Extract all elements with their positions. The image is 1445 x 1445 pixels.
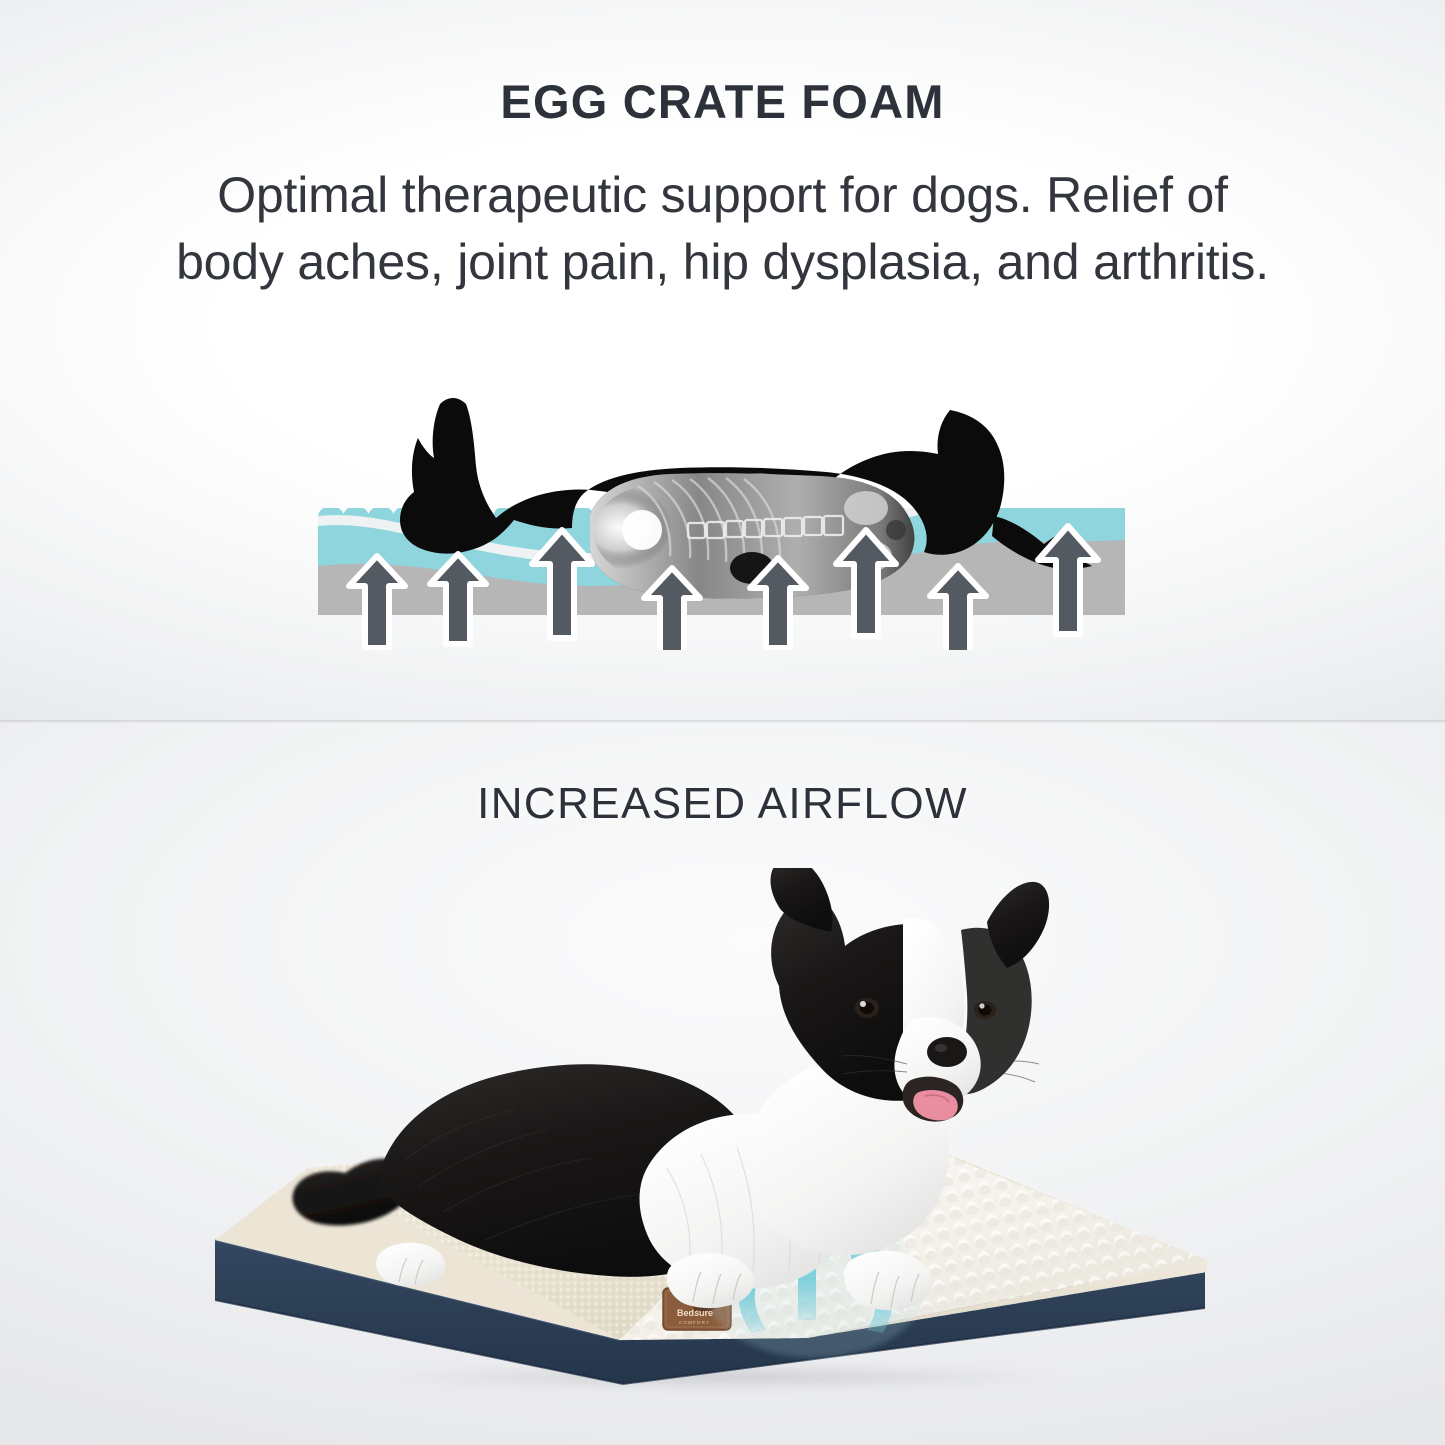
xray-illustration	[300, 380, 1160, 650]
page-title: EGG CRATE FOAM	[0, 74, 1445, 129]
subtitle: Optimal therapeutic support for dogs. Re…	[50, 162, 1395, 296]
egg-crate-peak	[593, 508, 619, 524]
dog-head-black-side	[771, 897, 911, 1101]
egg-crate-peak	[443, 508, 469, 524]
support-base-layer	[318, 561, 1125, 615]
egg-crate-peak	[318, 508, 344, 524]
dog-nose	[927, 1037, 967, 1067]
brand-label-subtext: COMFORT	[679, 1320, 710, 1325]
egg-crate-peak	[543, 508, 569, 524]
egg-crate-peak	[493, 508, 519, 524]
egg-crate-peak	[768, 508, 794, 524]
panel-egg-crate-foam: EGG CRATE FOAM Optimal therapeutic suppo…	[0, 0, 1445, 723]
egg-crate-peak	[518, 508, 544, 524]
egg-crate-peak	[918, 508, 944, 524]
egg-crate-peak	[843, 508, 869, 524]
egg-crate-peak	[1018, 508, 1044, 524]
egg-crate-peak	[993, 508, 1019, 524]
egg-crate-peak	[368, 508, 394, 524]
egg-crate-peak	[1068, 508, 1094, 524]
egg-crate-peaks	[318, 508, 1125, 524]
section-title-airflow: INCREASED AIRFLOW	[0, 779, 1445, 829]
egg-crate-peak	[793, 508, 819, 524]
egg-crate-peak	[568, 508, 594, 524]
egg-crate-peak	[943, 508, 969, 524]
egg-crate-peak	[668, 508, 694, 524]
egg-crate-peak	[393, 508, 419, 524]
egg-crate-peak	[643, 508, 669, 524]
egg-crate-peak	[893, 508, 919, 524]
egg-crate-peak	[693, 508, 719, 524]
foam-cross-section	[318, 508, 1125, 615]
egg-crate-peak	[818, 508, 844, 524]
egg-crate-peak	[1043, 508, 1069, 524]
egg-crate-peak	[618, 508, 644, 524]
egg-crate-peak	[468, 508, 494, 524]
subtitle-line-1: Optimal therapeutic support for dogs. Re…	[217, 167, 1228, 223]
egg-crate-peak	[343, 508, 369, 524]
egg-crate-peak	[1093, 508, 1119, 524]
egg-crate-peak	[968, 508, 994, 524]
egg-crate-peak	[868, 508, 894, 524]
egg-crate-peak	[1118, 508, 1125, 524]
egg-crate-peak	[743, 508, 769, 524]
infographic-page: EGG CRATE FOAM Optimal therapeutic suppo…	[0, 0, 1445, 1445]
product-photo: Bedsure COMFORT	[195, 868, 1255, 1398]
subtitle-line-2: body aches, joint pain, hip dysplasia, a…	[176, 234, 1269, 290]
egg-crate-peak	[418, 508, 444, 524]
egg-crate-peak	[718, 508, 744, 524]
egg-crate-top-layer	[318, 508, 1125, 564]
brand-label-text: Bedsure	[677, 1308, 713, 1318]
